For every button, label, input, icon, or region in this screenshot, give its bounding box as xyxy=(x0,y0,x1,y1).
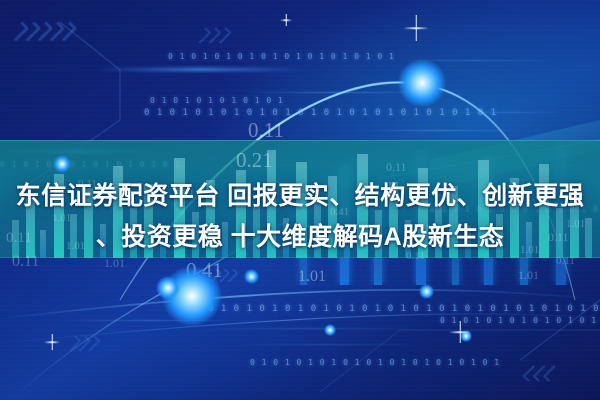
chevron-icon xyxy=(527,365,556,381)
sparkle-icon xyxy=(44,334,60,350)
glow-dot xyxy=(460,330,472,342)
headline: 东信证券配资平台 回报更实、结构更优、创新更强 、投资更稳 十大维度解码A股新生… xyxy=(0,176,600,258)
light-streak xyxy=(400,60,550,61)
light-streak xyxy=(96,68,306,71)
light-streak xyxy=(60,320,240,321)
light-streak xyxy=(230,344,420,345)
sparkle-icon xyxy=(280,14,292,26)
binary-digit-row: 0 1 0 1 0 1 0 1 0 1 0 1 0 1 0 1 0 1 0 1 xyxy=(168,52,395,61)
light-streak xyxy=(196,328,426,329)
chevron-icon xyxy=(199,27,228,43)
binary-digit-row: 0 1 0 1 0 1 0 1 0 1 0 1 0 1 0 1 0 1 0 1 … xyxy=(208,304,600,314)
light-streak xyxy=(240,92,440,93)
banner-image: 0 1 0 1 0 1 0 1 0 1 0 1 0 1 0 1 0 1 0 1 … xyxy=(0,0,600,400)
sparkle-icon xyxy=(403,15,429,41)
headline-line-1: 东信证券配资平台 回报更实、结构更优、创新更强 xyxy=(16,182,584,210)
glow-dot xyxy=(324,324,336,336)
sparkle-icon xyxy=(449,321,471,343)
binary-digit-row: 0 1 0 1 0 1 0 1 0 1 0 1 xyxy=(150,96,284,105)
glow-dot xyxy=(419,284,434,299)
chevron-icon xyxy=(14,22,72,41)
binary-digit-row: 0 1 0 1 0 1 0 1 0 1 0 1 0 1 0 1 0 1 0 1 … xyxy=(250,358,500,367)
headline-line-2: 、投资更稳 十大维度解码A股新生态 xyxy=(0,217,600,258)
binary-digit-row: 0 1 0 1 0 1 0 1 0 1 0 1 0 1 0 1 0 1 xyxy=(440,316,600,325)
glow-dot xyxy=(398,59,446,107)
chevron-icon xyxy=(69,336,96,351)
